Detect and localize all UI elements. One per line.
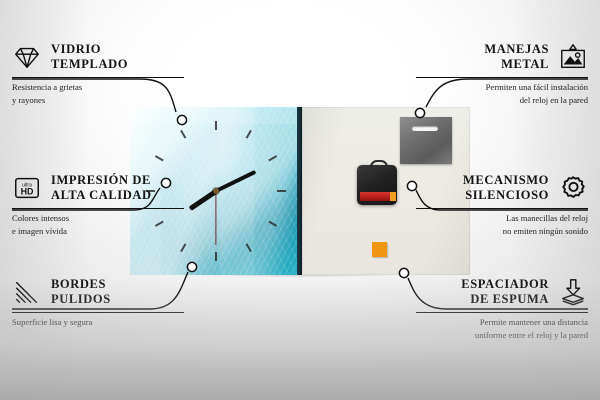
clock-tick <box>246 243 252 252</box>
clock-tick <box>180 130 186 139</box>
feature-espaciador-espuma[interactable]: ESPACIADOR DE ESPUMA Permite mantener un… <box>416 275 588 341</box>
polished-edges-icon <box>12 277 42 307</box>
clock-tick <box>268 221 277 227</box>
clock-center-cap <box>213 188 219 194</box>
feature-impresion-alta-calidad[interactable]: ultra HD IMPRESIÓN DE ALTA CALIDAD Color… <box>12 171 184 237</box>
feature-title: ESPACIADOR DE ESPUMA <box>461 277 549 307</box>
feature-divider <box>12 312 184 313</box>
svg-text:HD: HD <box>21 187 34 197</box>
hanger-slot <box>412 126 438 131</box>
clock-tick <box>155 155 164 161</box>
feature-description: Permiten una fácil instalación del reloj… <box>416 81 588 106</box>
feature-description: Resistencia a grietas y rayones <box>12 81 184 106</box>
infographic-canvas: VIDRIO TEMPLADO Resistencia a grietas y … <box>0 0 600 400</box>
battery <box>360 192 394 201</box>
feature-manejas-metal[interactable]: MANEJAS METAL Permiten una fácil instala… <box>416 40 588 106</box>
feature-vidrio-templado[interactable]: VIDRIO TEMPLADO Resistencia a grietas y … <box>12 40 184 106</box>
feature-description: Colores intensos e imagen vívida <box>12 212 184 237</box>
clock-tick <box>246 130 252 139</box>
clock-tick <box>277 190 286 192</box>
feature-title: MECANISMO SILENCIOSO <box>463 173 549 203</box>
feature-divider <box>416 77 588 78</box>
feature-title: BORDES PULIDOS <box>51 277 111 307</box>
foam-spacer-icon <box>558 277 588 307</box>
clock-tick <box>180 243 186 252</box>
clock-mechanism-box <box>357 165 397 205</box>
feature-title: MANEJAS METAL <box>484 42 549 72</box>
picture-hanger-icon <box>558 42 588 72</box>
feature-divider <box>12 77 184 78</box>
feature-description: Permite mantener una distancia uniforme … <box>416 316 588 341</box>
feature-title: VIDRIO TEMPLADO <box>51 42 128 72</box>
feature-description: Superficie lisa y segura <box>12 316 184 328</box>
clock-tick <box>268 155 277 161</box>
diamond-icon <box>12 42 42 72</box>
mechanism-hang-loop <box>370 160 388 170</box>
gear-icon <box>558 173 588 203</box>
clock-second-hand <box>215 191 216 245</box>
feature-divider <box>12 208 184 209</box>
ultra-hd-icon: ultra HD <box>12 173 42 203</box>
clock-minute-hand <box>215 170 256 193</box>
feature-divider <box>416 312 588 313</box>
feature-description: Las manecillas del reloj no emiten ningú… <box>416 212 588 237</box>
metal-hanger-plate <box>400 117 452 164</box>
battery-terminal <box>390 192 396 201</box>
feature-bordes-pulidos[interactable]: BORDES PULIDOS Superficie lisa y segura <box>12 275 184 329</box>
feature-title: IMPRESIÓN DE ALTA CALIDAD <box>51 173 152 203</box>
foam-spacer-pad <box>372 242 387 257</box>
clock-tick <box>215 121 217 130</box>
feature-divider <box>416 208 588 209</box>
clock-tick <box>215 252 217 261</box>
feature-mecanismo-silencioso[interactable]: MECANISMO SILENCIOSO Las manecillas del … <box>416 171 588 237</box>
